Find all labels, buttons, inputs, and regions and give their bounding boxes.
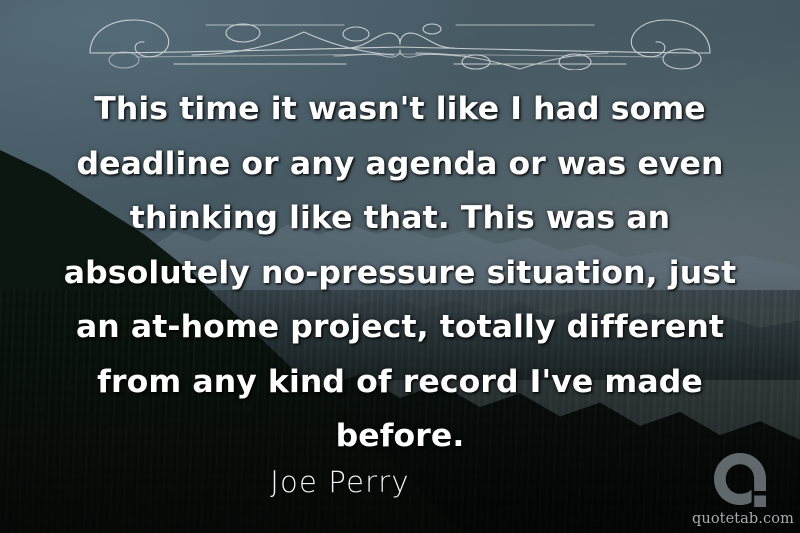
flourish-divider-icon [88,12,712,70]
quote-image-card: This time it wasn't like I had some dead… [0,0,800,533]
watermark[interactable]: quotetab.com [692,451,788,527]
quote-author: Joe Perry [60,465,620,499]
quotetab-q-logo-icon[interactable] [711,451,769,509]
quote-text: This time it wasn't like I had some dead… [60,82,740,464]
watermark-site-label[interactable]: quotetab.com [692,511,788,527]
